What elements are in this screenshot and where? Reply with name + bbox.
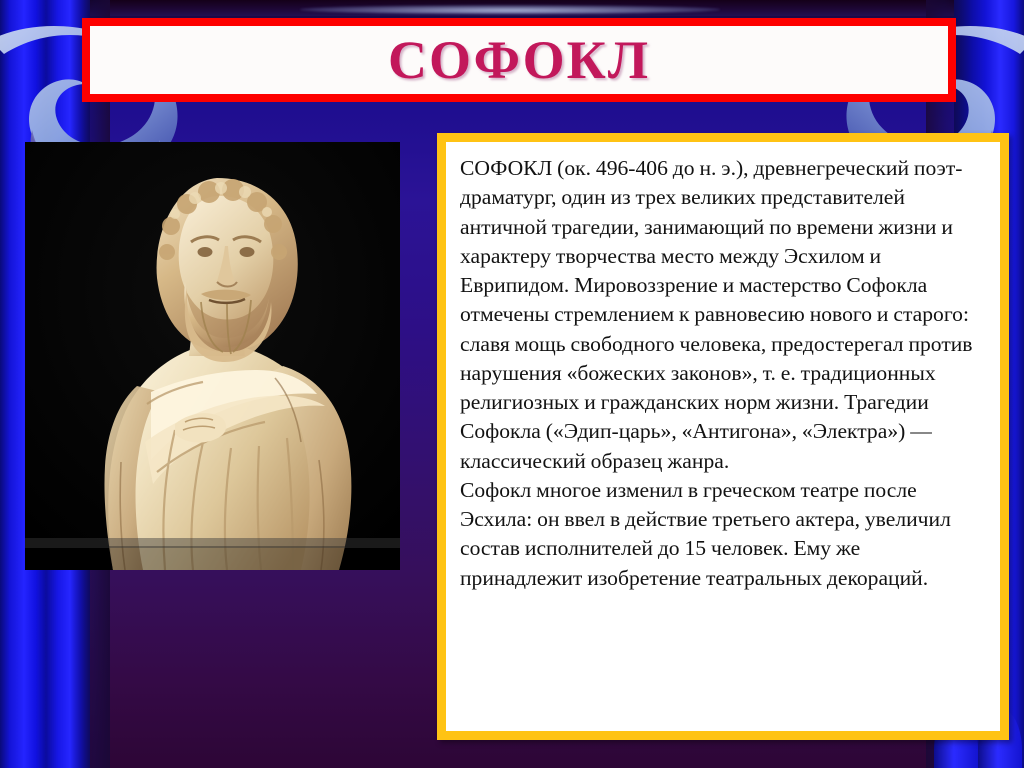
body-paragraph-1: СОФОКЛ (ок. 496-406 до н. э.), древнегре… [460, 154, 986, 476]
slide-title-box: СОФОКЛ [82, 18, 956, 102]
sophocles-statue-image [25, 142, 400, 570]
presentation-slide: СОФОКЛ [0, 0, 1024, 768]
page-title: СОФОКЛ [388, 33, 650, 87]
body-text-panel: СОФОКЛ (ок. 496-406 до н. э.), древнегре… [437, 133, 1009, 740]
body-paragraph-2: Софокл многое изменил в греческом театре… [460, 476, 986, 593]
top-arc-highlight [300, 5, 720, 14]
